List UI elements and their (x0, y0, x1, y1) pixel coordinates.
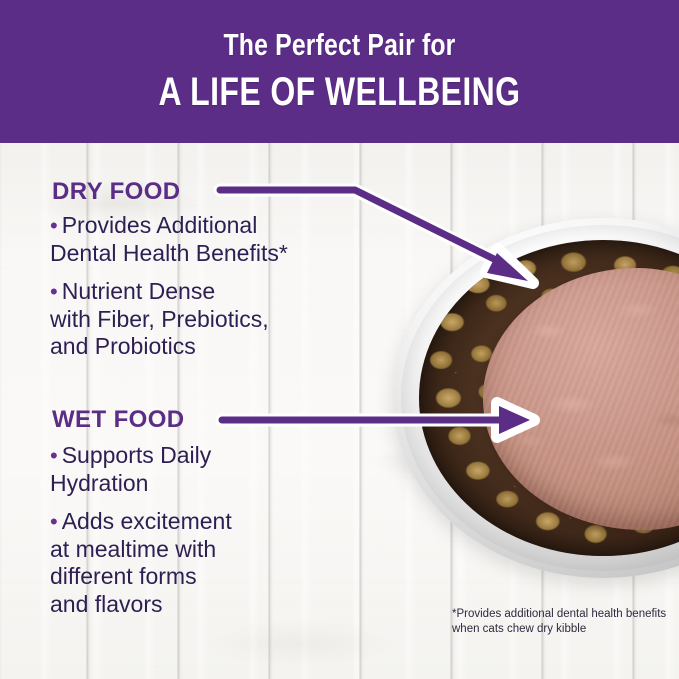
bullet-line: Provides Additional (62, 212, 258, 238)
bullet-line: Dental Health Benefits* (50, 240, 288, 266)
bullet-line: Supports Daily (62, 442, 212, 468)
bullet-line: and flavors (50, 591, 163, 617)
header-headline-line1: The Perfect Pair for (68, 28, 611, 62)
list-item: •Adds excitement at mealtime with differ… (50, 508, 232, 618)
header-band: The Perfect Pair for A LIFE OF WELLBEING (0, 0, 679, 143)
bullet-line: and Probiotics (50, 333, 196, 359)
bullet-line: with Fiber, Prebiotics, (50, 306, 269, 332)
pet-food-bowl-photo (393, 218, 679, 578)
bullet-dot-icon: • (50, 213, 58, 238)
list-item: •Supports Daily Hydration (50, 442, 232, 497)
dry-food-label: DRY FOOD (52, 178, 181, 206)
bullet-line: at mealtime with (50, 536, 216, 562)
header-headline-line2: A LIFE OF WELLBEING (68, 70, 611, 114)
list-item: •Provides Additional Dental Health Benef… (50, 212, 288, 267)
wet-food-bullet-list: •Supports Daily Hydration •Adds exciteme… (50, 442, 232, 629)
product-infographic: The Perfect Pair for A LIFE OF WELLBEING… (0, 0, 679, 679)
bullet-line: Adds excitement (62, 508, 232, 534)
bullet-line: Hydration (50, 470, 148, 496)
bullet-line: Nutrient Dense (62, 278, 215, 304)
dry-food-bullet-list: •Provides Additional Dental Health Benef… (50, 212, 288, 372)
wet-food-label: WET FOOD (52, 406, 185, 434)
bowl-interior (419, 240, 679, 556)
bullet-line: different forms (50, 563, 197, 589)
list-item: •Nutrient Dense with Fiber, Prebiotics, … (50, 278, 288, 361)
footnote-text: *Provides additional dental health benef… (452, 607, 672, 637)
bullet-dot-icon: • (50, 509, 58, 534)
bullet-dot-icon: • (50, 279, 58, 304)
bullet-dot-icon: • (50, 443, 58, 468)
